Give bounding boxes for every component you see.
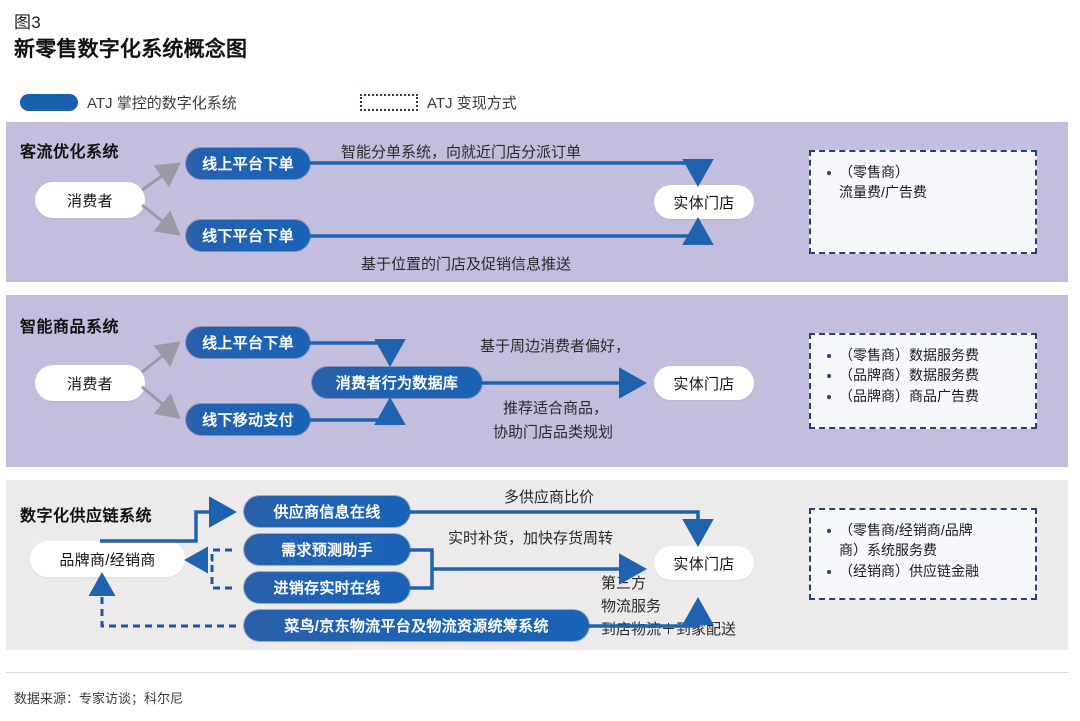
legend-item-atj-monetization: ATJ 变现方式: [360, 92, 517, 113]
money-box-traffic: （零售商） 流量费/广告费: [809, 150, 1037, 254]
legend-item-atj-controlled: ATJ 掌控的数字化系统: [20, 92, 237, 113]
node-demand-forecast-label: 需求预测助手: [281, 539, 373, 560]
money-item: （零售商/经销商/品牌: [825, 520, 1023, 540]
money-item-cont: 商）系统服务费: [825, 540, 1023, 560]
money-item: （经销商）供应链金融: [825, 561, 1023, 581]
money-list-merchandise: （零售商）数据服务费 （品牌商）数据服务费 （品牌商）商品广告费: [825, 345, 1023, 406]
node-physical-store-label: 实体门店: [673, 192, 734, 213]
figure-number: 图3: [14, 8, 41, 33]
node-logistics-platform-label: 菜鸟/京东物流平台及物流资源统筹系统: [284, 615, 549, 636]
node-online-order-label: 线上平台下单: [202, 332, 294, 353]
legend-label-atj-controlled: ATJ 掌控的数字化系统: [87, 92, 237, 113]
money-list-supply-chain: （零售商/经销商/品牌 商）系统服务费 （经销商）供应链金融: [825, 520, 1023, 581]
node-behavior-database-label: 消费者行为数据库: [336, 372, 458, 393]
node-logistics-platform: 菜鸟/京东物流平台及物流资源统筹系统: [244, 610, 589, 641]
panel-smart-merchandise: 智能商品系统 消费者 线上平台下单 线下移动支付 消费者行为数据库 实体门店 基…: [6, 295, 1068, 467]
node-online-order-label: 线上平台下单: [202, 153, 294, 174]
legend-solid-pill-icon: [20, 94, 78, 111]
node-physical-store: 实体门店: [654, 185, 754, 219]
node-offline-order-label: 线下平台下单: [202, 225, 294, 246]
money-item-cont: 流量费/广告费: [825, 182, 1023, 202]
node-consumer-label: 消费者: [67, 373, 113, 394]
caption-realtime-replenish: 实时补货，加快存货周转: [448, 529, 613, 549]
legend-label-atj-monetization: ATJ 变现方式: [427, 92, 517, 113]
caption-store-home-delivery: 到店物流＋到家配送: [601, 620, 736, 640]
node-consumer: 消费者: [35, 182, 145, 218]
money-box-merchandise: （零售商）数据服务费 （品牌商）数据服务费 （品牌商）商品广告费: [809, 333, 1037, 429]
panel-traffic-optimization: 客流优化系统 消费者 线上平台下单 线下平台下单 实体门店 智能分单系统，向就近…: [6, 122, 1068, 282]
node-brand-distributor-label: 品牌商/经销商: [59, 549, 155, 570]
caption-category-planning: 协助门店品类规划: [493, 423, 613, 443]
source-note: 数据来源：专家访谈；科尔尼: [14, 688, 183, 707]
node-behavior-database: 消费者行为数据库: [312, 367, 482, 398]
money-item: （品牌商）商品广告费: [825, 386, 1023, 406]
money-item: （品牌商）数据服务费: [825, 365, 1023, 385]
money-item: （零售商）数据服务费: [825, 345, 1023, 365]
money-item: （零售商）: [825, 162, 1023, 182]
node-demand-forecast: 需求预测助手: [244, 534, 410, 565]
money-list-traffic: （零售商） 流量费/广告费: [825, 162, 1023, 203]
node-inventory-realtime-label: 进销存实时在线: [273, 577, 380, 598]
node-physical-store: 实体门店: [654, 366, 754, 400]
caption-multi-supplier-price: 多供应商比价: [504, 488, 594, 508]
node-inventory-realtime: 进销存实时在线: [244, 572, 410, 603]
caption-location-push: 基于位置的门店及促销信息推送: [361, 255, 571, 275]
legend-dotted-box-icon: [360, 94, 418, 111]
caption-recommend-goods: 推荐适合商品，: [503, 399, 608, 419]
caption-third-party: 第三方: [601, 574, 646, 594]
node-online-order: 线上平台下单: [186, 327, 310, 358]
panel-title-traffic: 客流优化系统: [20, 138, 119, 162]
node-supplier-info-online: 供应商信息在线: [244, 496, 410, 527]
panel-title-supply-chain: 数字化供应链系统: [20, 502, 152, 526]
footer-divider: [6, 672, 1068, 673]
caption-logistics-service: 物流服务: [601, 597, 661, 617]
panel-digital-supply-chain: 数字化供应链系统 品牌商/经销商 供应商信息在线 需求预测助手 进销存实时在线 …: [6, 480, 1068, 650]
caption-smart-order-split: 智能分单系统，向就近门店分派订单: [341, 143, 581, 163]
node-physical-store: 实体门店: [654, 546, 754, 580]
figure-root: 图3 新零售数字化系统概念图 ATJ 掌控的数字化系统 ATJ 变现方式 客流优…: [0, 0, 1080, 721]
page-title: 新零售数字化系统概念图: [14, 33, 247, 63]
node-offline-mobile-pay-label: 线下移动支付: [202, 409, 294, 430]
node-supplier-info-online-label: 供应商信息在线: [273, 501, 380, 522]
node-physical-store-label: 实体门店: [673, 553, 734, 574]
panel-title-merchandise: 智能商品系统: [20, 313, 119, 337]
node-consumer-label: 消费者: [67, 190, 113, 211]
node-physical-store-label: 实体门店: [673, 373, 734, 394]
node-online-order: 线上平台下单: [186, 148, 310, 179]
caption-nearby-preference: 基于周边消费者偏好，: [480, 337, 630, 357]
node-offline-order: 线下平台下单: [186, 220, 310, 251]
money-box-supply-chain: （零售商/经销商/品牌 商）系统服务费 （经销商）供应链金融: [809, 508, 1037, 600]
node-consumer: 消费者: [35, 365, 145, 401]
node-offline-mobile-pay: 线下移动支付: [186, 404, 310, 435]
node-brand-distributor: 品牌商/经销商: [30, 541, 185, 577]
